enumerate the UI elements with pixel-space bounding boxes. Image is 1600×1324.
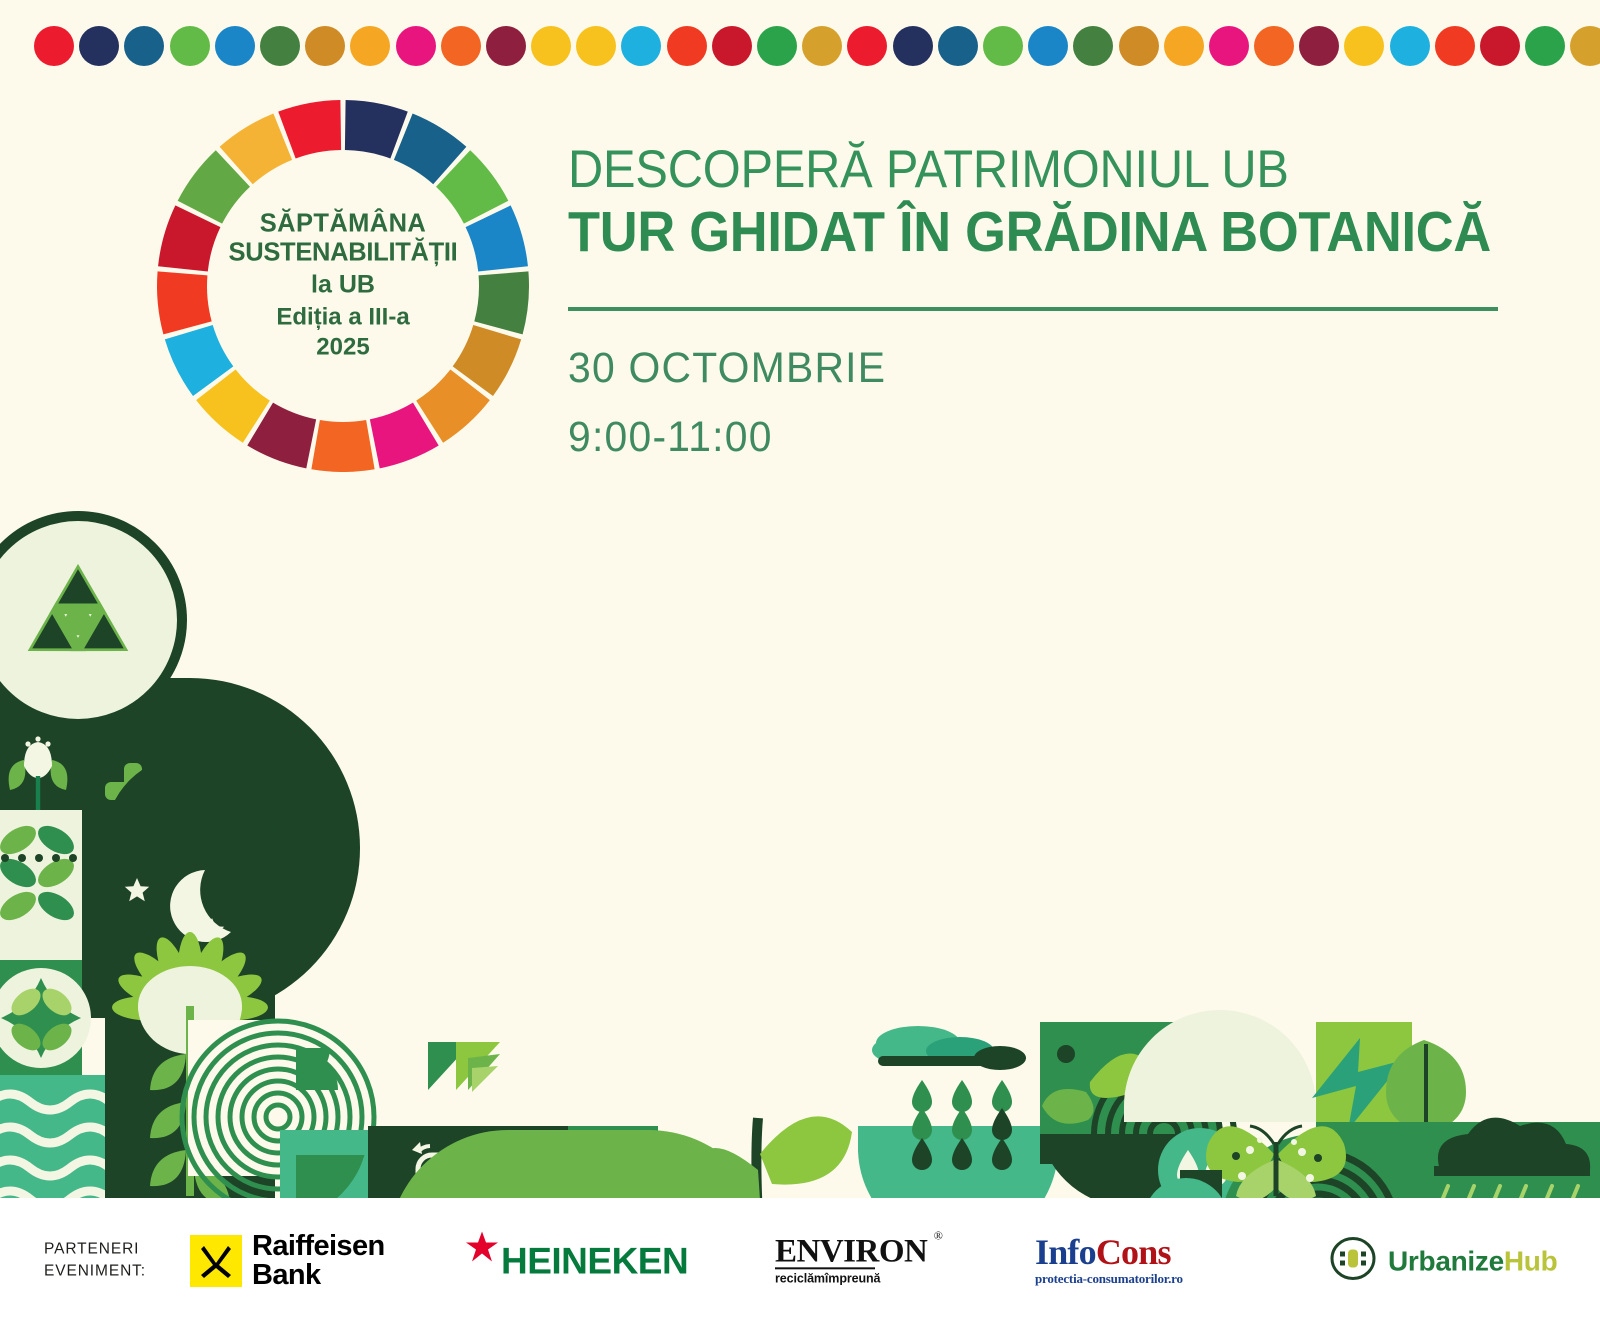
partner-logo-urbanizehub[interactable]: UrbanizeHub [1330,1236,1557,1287]
color-dot [79,26,119,66]
color-dot [1254,26,1294,66]
logo-line-2: SUSTENABILITĂȚII [218,239,468,268]
urbanizehub-mark-icon [1330,1236,1376,1287]
partner-logo-heineken[interactable]: HEINEKEN [465,1231,688,1292]
partner-label: PARTENERI EVENIMENT: [44,1239,146,1284]
color-dot [621,26,661,66]
heineken-wordmark: HEINEKEN [501,1243,688,1280]
infocons-tagline: protectia-consumatorilor.ro [1035,1271,1183,1287]
event-poster: SĂPTĂMÂNA SUSTENABILITĂȚII la UB Ediția … [0,0,1600,1324]
infocons-text-a: Info [1035,1232,1096,1272]
color-dot [305,26,345,66]
page-title-line-2: TUR GHIDAT ÎN GRĂDINA BOTANICĂ [568,201,1470,265]
partner-label-line-1: PARTENERI [44,1239,146,1261]
color-dot [802,26,842,66]
sustainability-collage-illustration [0,510,1600,1198]
color-dot [215,26,255,66]
color-dot [1525,26,1565,66]
logo-ring-segment [311,420,374,472]
registered-mark-icon: ® [934,1230,943,1241]
partner-logo-infocons[interactable]: InfoCons protectia-consumatorilor.ro [1035,1235,1183,1287]
logo-ring-segment [157,271,212,334]
sustainability-week-logo: SĂPTĂMÂNA SUSTENABILITĂȚII la UB Ediția … [148,100,538,472]
logo-ring-segment [474,271,529,334]
environ-wordmark: ENVIRON ® [775,1236,927,1266]
raindrops-icon [912,1080,1012,1170]
color-dot [1164,26,1204,66]
event-date: 30 OCTOMBRIE [568,347,1499,390]
color-dot [576,26,616,66]
color-dot [667,26,707,66]
environ-text: ENVIRON [775,1233,927,1269]
collage-svg [0,510,1600,1198]
logo-text-block: SĂPTĂMÂNA SUSTENABILITĂȚII la UB Ediția … [218,210,468,363]
logo-line-4: Ediția a III-a [218,301,468,332]
color-dot [712,26,752,66]
color-dot [441,26,481,66]
color-dot [124,26,164,66]
infocons-wordmark: InfoCons [1035,1235,1183,1269]
partner-label-line-2: EVENIMENT: [44,1261,146,1283]
color-dot [34,26,74,66]
page-title-line-1: DESCOPERĂ PATRIMONIUL UB [568,140,1470,199]
color-dot [531,26,571,66]
color-dot [350,26,390,66]
title-divider [568,307,1498,311]
heineken-star-icon [465,1231,499,1270]
leaf-pattern-tile [0,810,82,960]
urbanizehub-wordmark: UrbanizeHub [1388,1247,1557,1275]
color-dot [1028,26,1068,66]
logo-line-5: 2025 [218,332,468,362]
infocons-text-b: Cons [1096,1232,1171,1272]
raiffeisen-line-2: Bank [252,1261,385,1290]
poster-header: SĂPTĂMÂNA SUSTENABILITĂȚII la UB Ediția … [0,92,1600,510]
color-dot [396,26,436,66]
color-dot [1073,26,1113,66]
color-dot [757,26,797,66]
poster-footer: PARTENERI EVENIMENT: Raiffeisen Bank HEI… [0,1198,1600,1324]
rain-forest-panel [1405,1118,1600,1198]
color-dot [893,26,933,66]
sdg-color-dots-strip [0,0,1600,92]
color-dot [1344,26,1384,66]
color-dot [983,26,1023,66]
color-dot [1435,26,1475,66]
color-dot [1119,26,1159,66]
rain-cloud-icon [858,998,1058,1198]
color-dot [1480,26,1520,66]
leaf-diamond-tile [0,960,91,1075]
partner-logo-environ[interactable]: ENVIRON ® reciclămîmpreună [775,1236,927,1285]
title-block: DESCOPERĂ PATRIMONIUL UB TUR GHIDAT ÎN G… [568,140,1548,459]
urbanizehub-text-b: Hub [1504,1245,1558,1276]
raiffeisen-wordmark: Raiffeisen Bank [252,1232,385,1290]
color-dot [847,26,887,66]
environ-tagline: reciclămîmpreună [775,1272,927,1286]
urbanizehub-text-a: Urbanize [1388,1245,1504,1276]
color-dot [260,26,300,66]
color-dot [1299,26,1339,66]
logo-line-3: la UB [218,269,468,302]
color-dot [1570,26,1600,66]
partner-logo-raiffeisen-bank[interactable]: Raiffeisen Bank [190,1232,385,1290]
color-dot [170,26,210,66]
color-dot [1209,26,1249,66]
event-time: 9:00-11:00 [568,416,1499,459]
color-dot [1390,26,1430,66]
color-dot [938,26,978,66]
color-dot [486,26,526,66]
raiffeisen-horse-heads-icon [190,1235,242,1287]
logo-line-1: SĂPTĂMÂNA [218,210,468,239]
raiffeisen-line-1: Raiffeisen [252,1232,385,1261]
